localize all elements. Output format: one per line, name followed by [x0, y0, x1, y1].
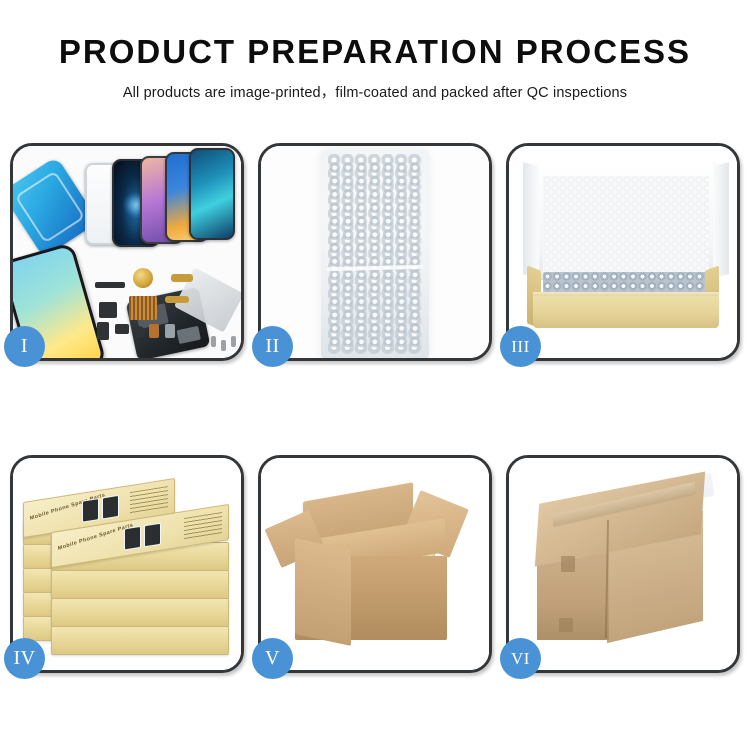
step-4-backdrop: Mobile Phone Spare Parts Mobile Phone Sp… [13, 458, 241, 670]
step-5-badge: V [252, 638, 293, 679]
process-step-6[interactable]: VI [506, 455, 740, 673]
step-3-image [509, 146, 737, 358]
step-5-image [261, 458, 489, 670]
inner-box-front-graphic [533, 296, 719, 328]
step-2-badge: II [252, 326, 293, 367]
retail-box-artwork-back-2 [102, 495, 119, 520]
page-title: PRODUCT PREPARATION PROCESS [0, 34, 750, 70]
step-6-image [509, 458, 737, 670]
step-4-badge: IV [4, 638, 45, 679]
process-step-grid: I II III [10, 143, 740, 673]
phone-screen-teal-graphic [189, 148, 235, 240]
page-subtitle: All products are image-printed，film-coat… [0, 81, 750, 102]
carton-mark-lower-graphic [559, 618, 573, 632]
foam-sheet-graphic [543, 176, 709, 276]
step-4-image: Mobile Phone Spare Parts Mobile Phone Sp… [13, 458, 241, 670]
step-6-badge: VI [500, 638, 541, 679]
retail-box-artwork-back-1 [82, 498, 99, 523]
page-header: PRODUCT PREPARATION PROCESS All products… [0, 0, 750, 102]
spare-parts-graphic [91, 266, 241, 358]
process-step-4[interactable]: Mobile Phone Spare Parts Mobile Phone Sp… [10, 455, 244, 673]
retail-box-artwork-front-1 [124, 526, 141, 551]
retail-box-stack-graphic: Mobile Phone Spare Parts Mobile Phone Sp… [19, 484, 241, 666]
retail-box-spec-lines-front [184, 512, 222, 540]
step-1-badge: I [4, 326, 45, 367]
process-step-2[interactable]: II [258, 143, 492, 361]
step-5-backdrop [261, 458, 489, 670]
retail-box-artwork-front-2 [144, 523, 161, 548]
process-step-1[interactable]: I [10, 143, 244, 361]
carton-mark-upper-graphic [561, 556, 575, 572]
step-6-backdrop [509, 458, 737, 670]
retail-box-spec-lines-back [130, 486, 168, 514]
step-3-backdrop [509, 146, 737, 358]
bubble-pattern-overlay-graphic [328, 161, 422, 351]
step-2-image [261, 146, 489, 358]
step-3-badge: III [500, 326, 541, 367]
process-step-3[interactable]: III [506, 143, 740, 361]
carton-side-graphic [295, 538, 351, 646]
process-step-5[interactable]: V [258, 455, 492, 673]
step-1-image [13, 146, 241, 358]
